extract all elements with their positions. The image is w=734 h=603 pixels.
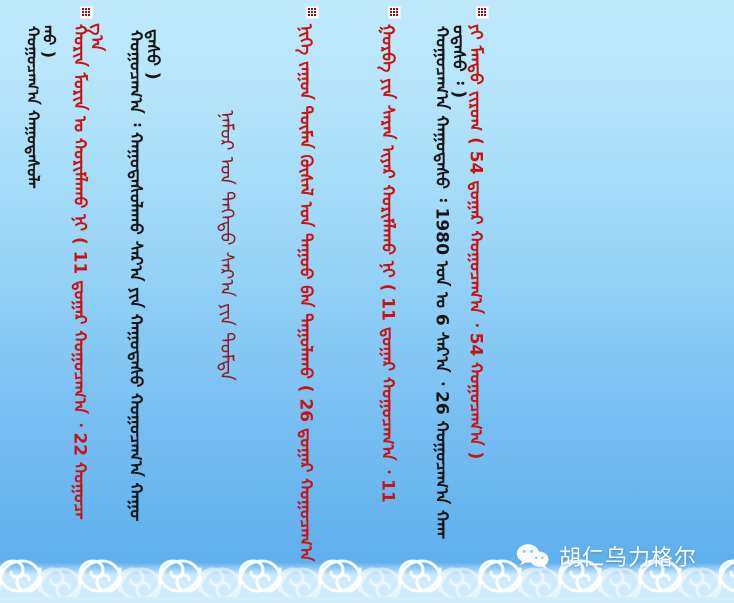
text-column-1: ᠶᠢ ᠮᠠᠨᠳᠤ ᠵᠢᠷᠤᠭ ( 54 ᠳ᠋ᠤᠭᠠᠷ ᠬᠤᠭᠤᠴᠠᠭ᠎ᠠ ᠂ 5… [466, 24, 498, 569]
lattice-badge-icon [476, 6, 489, 19]
text-column-1-content: ᠶᠢ ᠮᠠᠨᠳᠤ ᠵᠢᠷᠤᠭ ( 54 ᠳ᠋ᠤᠭᠠᠷ ᠬᠤᠭᠤᠴᠠᠭ᠎ᠠ ᠂ 5… [466, 24, 483, 569]
text-column-3-content: ᠭᠤᠷᠪᠠ ᠶᠢᠨ ᠰᠠᠷᠠᠨ ᠢᠶᠠᠷ ᠬᠤᠷᠢᠮᠯᠠᠬᠤ ᠨᠢ ( 11 ᠳ… [378, 24, 395, 524]
lattice-badge-icon [80, 6, 93, 19]
text-column-5-content: ᠨᠠᠮᠤᠷ ᠤᠨ ᠳᠡᠭᠡᠳᠦ ᠰᠠᠷ᠎ᠠ ᠶᠢᠨ ᠳᠤᠮᠳᠠ᠌ [216, 110, 235, 470]
text-column-2-content: ᠬᠤᠭᠤᠴᠠᠭ᠎ᠠ ᠬᠠᠭᠤᠳᠠᠰᠤ ᠄ 1980 ᠣᠨ ᠤ 6 ᠰᠠᠷ᠎ᠠ ᠂… [432, 26, 467, 546]
text-column-5-calligraphy: ᠨᠠᠮᠤᠷ ᠤᠨ ᠳᠡᠭᠡᠳᠦ ᠰᠠᠷ᠎ᠠ ᠶᠢᠨ ᠳᠤᠮᠳᠠ᠌ [216, 110, 250, 470]
text-column-3: ᠭᠤᠷᠪᠠ ᠶᠢᠨ ᠰᠠᠷᠠᠨ ᠢᠶᠠᠷ ᠬᠤᠷᠢᠮᠯᠠᠬᠤ ᠨᠢ ( 11 ᠳ… [378, 24, 410, 524]
text-column-4-content: ᠨᠢᠭᠡ ᠵᠠᠭᠤᠨ ᠲᠦᠮᠡᠨ ᠬᠦᠰᠡᠯ ᠤᠨ ᠳᠠᠭᠤᠤ ᠪᠠᠨ ᠳᠠᠭᠤ… [296, 24, 313, 564]
lattice-badge-icon [388, 6, 401, 19]
text-column-6-content: ᠬᠤᠭᠤᠴᠠᠭ᠎ᠠ ᠄ ᠬᠠᠭᠤᠳᠠᠰᠤᠯᠠᠬᠤ ᠰᠠᠷ᠎ᠠ ᠶᠢᠨ ᠬᠠᠭᠤᠳ… [126, 30, 161, 530]
text-column-6: ᠬᠤᠭᠤᠴᠠᠭ᠎ᠠ ᠄ ᠬᠠᠭᠤᠳᠠᠰᠤᠯᠠᠬᠤ ᠰᠠᠷ᠎ᠠ ᠶᠢᠨ ᠬᠠᠭᠤᠳ… [126, 30, 156, 530]
lattice-badge-icon [306, 6, 319, 19]
wechat-icon [516, 543, 550, 570]
text-column-4: ᠨᠢᠭᠡ ᠵᠠᠭᠤᠨ ᠲᠦᠮᠡᠨ ᠬᠦᠰᠡᠯ ᠤᠨ ᠳᠠᠭᠤᠤ ᠪᠠᠨ ᠳᠠᠭᠤ… [296, 24, 328, 564]
text-column-7-content: ᠬᠤᠷᠢᠨ ᠮᠤᠷᠢᠨ ᠤ ᠬᠤᠷᠢᠮᠯᠠᠬᠤ ᠨᠢ ( 11 ᠳ᠋ᠤᠭᠠᠷ ᠬ… [70, 24, 105, 534]
text-column-8: ᠬᠤᠭᠤᠴᠠᠭ᠎ᠠ ᠬᠠᠭᠤᠳᠠᠰᠤᠯᠠᠬᠤ ) [24, 26, 54, 196]
wechat-watermark: 胡仁乌力格尔 [516, 540, 697, 572]
watermark-label: 胡仁乌力格尔 [559, 540, 697, 572]
poster-canvas: ᠶᠢ ᠮᠠᠨᠳᠤ ᠵᠢᠷᠤᠭ ( 54 ᠳ᠋ᠤᠭᠠᠷ ᠬᠤᠭᠤᠴᠠᠭ᠎ᠠ ᠂ 5… [0, 0, 734, 603]
text-column-8-content: ᠬᠤᠭᠤᠴᠠᠭ᠎ᠠ ᠬᠠᠭᠤᠳᠠᠰᠤᠯᠠᠬᠤ ) [24, 26, 57, 196]
text-column-7: ᠬᠤᠷᠢᠨ ᠮᠤᠷᠢᠨ ᠤ ᠬᠤᠷᠢᠮᠯᠠᠬᠤ ᠨᠢ ( 11 ᠳ᠋ᠤᠭᠠᠷ ᠬ… [70, 24, 102, 534]
text-column-2: ᠬᠤᠭᠤᠴᠠᠭ᠎ᠠ ᠬᠠᠭᠤᠳᠠᠰᠤ ᠄ 1980 ᠣᠨ ᠤ 6 ᠰᠠᠷ᠎ᠠ ᠂… [432, 26, 462, 546]
